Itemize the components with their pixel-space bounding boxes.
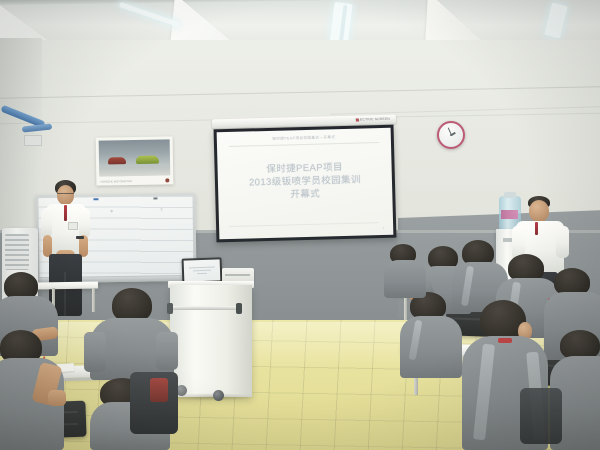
document-camera-slot (225, 274, 250, 276)
laptop-slide-line (189, 267, 214, 269)
student (556, 330, 600, 450)
roller-brand-label: ELECTRIC SCREEN (355, 116, 390, 124)
student-shirt (400, 316, 462, 378)
projection-screen: 保时捷PEAP项目校园集训－开幕式 保时捷PEAP项目 2013级钣喷学员校园集… (214, 125, 397, 243)
whiteboard-magnet (153, 197, 157, 199)
student-hand (48, 390, 66, 406)
glasses-icon (57, 193, 74, 197)
presenter-left-arm (79, 208, 90, 238)
student-arm (156, 332, 178, 370)
wall-clock-icon (437, 121, 465, 149)
trouser-crease (64, 272, 66, 316)
whiteboard-mark: C (161, 207, 163, 211)
presenter-left-lanyard (64, 205, 67, 221)
poster-track (99, 166, 170, 177)
lanyard-icon (498, 338, 512, 343)
av-cart-wheel (213, 390, 224, 401)
student-shirt (384, 260, 426, 298)
backpack-accent (150, 378, 168, 402)
slide-divider (229, 142, 379, 147)
student-hair (112, 288, 152, 322)
classroom-photo: ELECTRIC SCREEN 保时捷PEAP项目校园集训－开幕式 保时捷PEA… (0, 0, 600, 450)
student (384, 244, 424, 298)
av-cart-handle-end (236, 303, 242, 314)
clock-center-pin (450, 134, 452, 136)
laptop-slide-line (193, 270, 212, 272)
student (0, 330, 80, 450)
poster-image (99, 139, 171, 176)
presenter-left-badge (68, 222, 78, 230)
wristwatch-icon (76, 236, 84, 239)
whiteboard-mark: B (111, 209, 113, 213)
student (400, 292, 462, 378)
poster-logo-icon (165, 178, 169, 182)
av-cart (170, 285, 252, 397)
poster-car-red (107, 157, 126, 165)
slide-page-number: 1 (382, 226, 384, 230)
poster-car-green (136, 155, 159, 164)
laptop-screen (184, 259, 221, 281)
backpack (520, 388, 562, 444)
presenter-right-head (529, 200, 549, 222)
slide-footer-divider (229, 222, 379, 227)
poster-caption: PORSCHE MOTORSPORT (100, 180, 132, 184)
av-cart-handle[interactable] (171, 306, 237, 310)
presenter-left-arm (41, 208, 52, 238)
projection-screen-surface: 保时捷PEAP项目校园集训－开幕式 保时捷PEAP项目 2013级钣喷学员校园集… (217, 128, 394, 240)
slide-header-text: 保时捷PEAP项目校园集训－开幕式 (272, 135, 335, 142)
wall-poster: PORSCHE MOTORSPORT (96, 136, 174, 185)
air-conditioner-vent (5, 234, 29, 270)
slide-title-block: 保时捷PEAP项目 2013级钣喷学员校园集训 开幕式 (249, 161, 362, 203)
laptop-slide-line (197, 273, 208, 274)
student-arm (84, 332, 106, 372)
presenter-right-lanyard (535, 222, 538, 235)
wall-bracket (24, 135, 42, 146)
